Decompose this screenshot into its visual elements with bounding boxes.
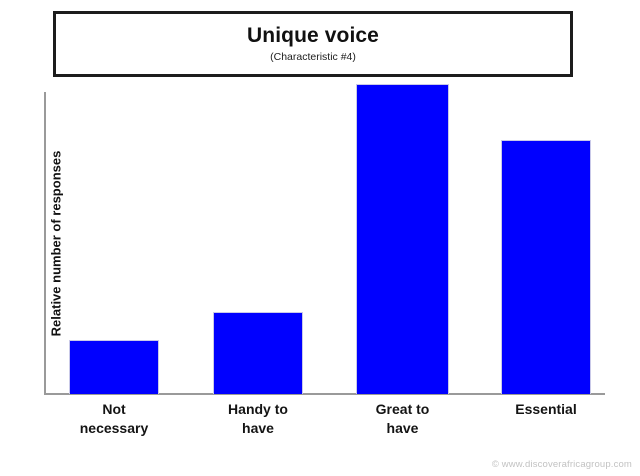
copyright-watermark: © www.discoverafricagroup.com bbox=[492, 459, 632, 470]
x-axis-label-line: Essential bbox=[476, 400, 616, 419]
x-axis-label-not-necessary: Notnecessary bbox=[44, 400, 184, 438]
x-axis-label-line: have bbox=[331, 419, 474, 438]
bar-great-to-have bbox=[356, 84, 449, 394]
chart-subtitle: (Characteristic #4) bbox=[270, 50, 356, 64]
x-axis-label-line: necessary bbox=[44, 419, 184, 438]
y-axis-line bbox=[44, 92, 46, 395]
x-axis-label-essential: Essential bbox=[476, 400, 616, 419]
x-axis-label-line: have bbox=[188, 419, 328, 438]
x-axis-label-great-to-have: Great tohave bbox=[331, 400, 474, 438]
bar-not-necessary bbox=[69, 340, 159, 394]
x-axis-label-line: Handy to bbox=[188, 400, 328, 419]
page-title: Unique voice bbox=[247, 24, 379, 48]
bar-essential bbox=[501, 140, 591, 394]
x-axis-label-line: Not bbox=[44, 400, 184, 419]
y-axis-title: Relative number of responses bbox=[49, 94, 64, 394]
x-axis-label-line: Great to bbox=[331, 400, 474, 419]
chart-title-box: Unique voice (Characteristic #4) bbox=[53, 11, 573, 77]
bar-handy-to-have bbox=[213, 312, 303, 394]
x-axis-label-handy-to-have: Handy tohave bbox=[188, 400, 328, 438]
